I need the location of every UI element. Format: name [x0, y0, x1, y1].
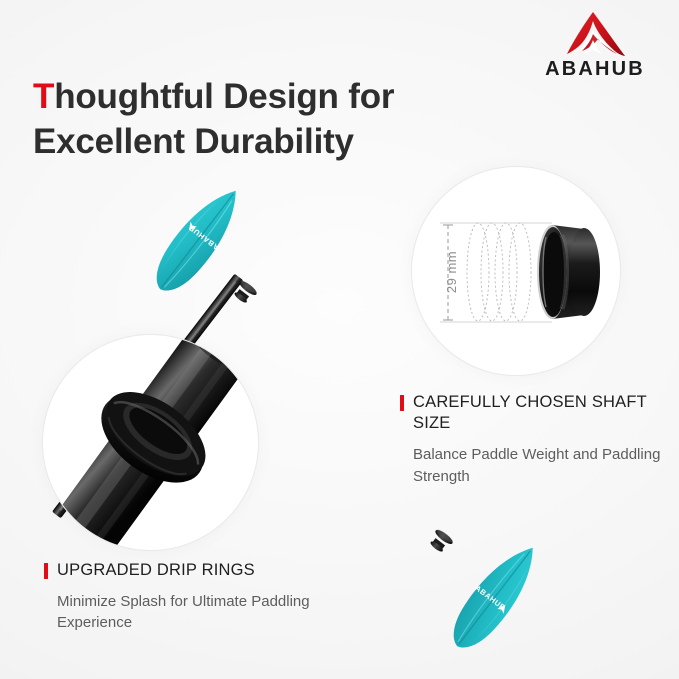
brand-logo: ABAHUB [535, 10, 655, 79]
callout-title: UPGRADED DRIP RINGS [57, 560, 255, 581]
callout-subtitle: Minimize Splash for Ultimate Paddling Ex… [57, 591, 344, 634]
callout-carefully-chosen-shaft-size: CAREFULLY CHOSEN SHAFT SIZE Balance Padd… [400, 392, 665, 487]
headline-line1: houghtful Design for [54, 77, 394, 116]
paddle-blade-upper: ABAHUB [145, 179, 253, 302]
page-title: Thoughtful Design for Excellent Durabili… [33, 75, 503, 165]
red-bullet-bar-icon [400, 395, 404, 411]
callout-subtitle: Balance Paddle Weight and Paddling Stren… [413, 444, 665, 487]
brand-name-text: ABAHUB [535, 59, 655, 79]
shaft-diameter-inset: 29 mm [411, 166, 621, 376]
paddle-blade-lower: ABAHUB [441, 535, 549, 658]
blade-logo-text-lower: ABAHUB [473, 583, 507, 612]
abahub-swoosh-icon [560, 10, 630, 58]
callout-upgraded-drip-rings: UPGRADED DRIP RINGS Minimize Splash for … [44, 560, 344, 634]
headline-line2: Excellent Durability [33, 122, 354, 161]
dimension-label-text: 29 mm [444, 251, 459, 293]
shaft-diameter-diagram: 29 mm [412, 167, 620, 375]
infographic-page: ABAHUB Thoughtful Design for Excellent D… [0, 0, 679, 679]
blade-logo-text-upper: ABAHUB [187, 223, 221, 252]
drip-rings-inset [42, 334, 259, 551]
drip-ring-lower [427, 528, 455, 555]
callout-heading-row: CAREFULLY CHOSEN SHAFT SIZE [400, 392, 665, 434]
headline-drop-cap: T [33, 77, 54, 116]
red-bullet-bar-icon [44, 563, 48, 579]
drip-ring-closeup-diagram [43, 335, 258, 550]
callout-title: CAREFULLY CHOSEN SHAFT SIZE [413, 392, 665, 434]
callout-heading-row: UPGRADED DRIP RINGS [44, 560, 344, 581]
drip-ring-upper [231, 279, 259, 306]
